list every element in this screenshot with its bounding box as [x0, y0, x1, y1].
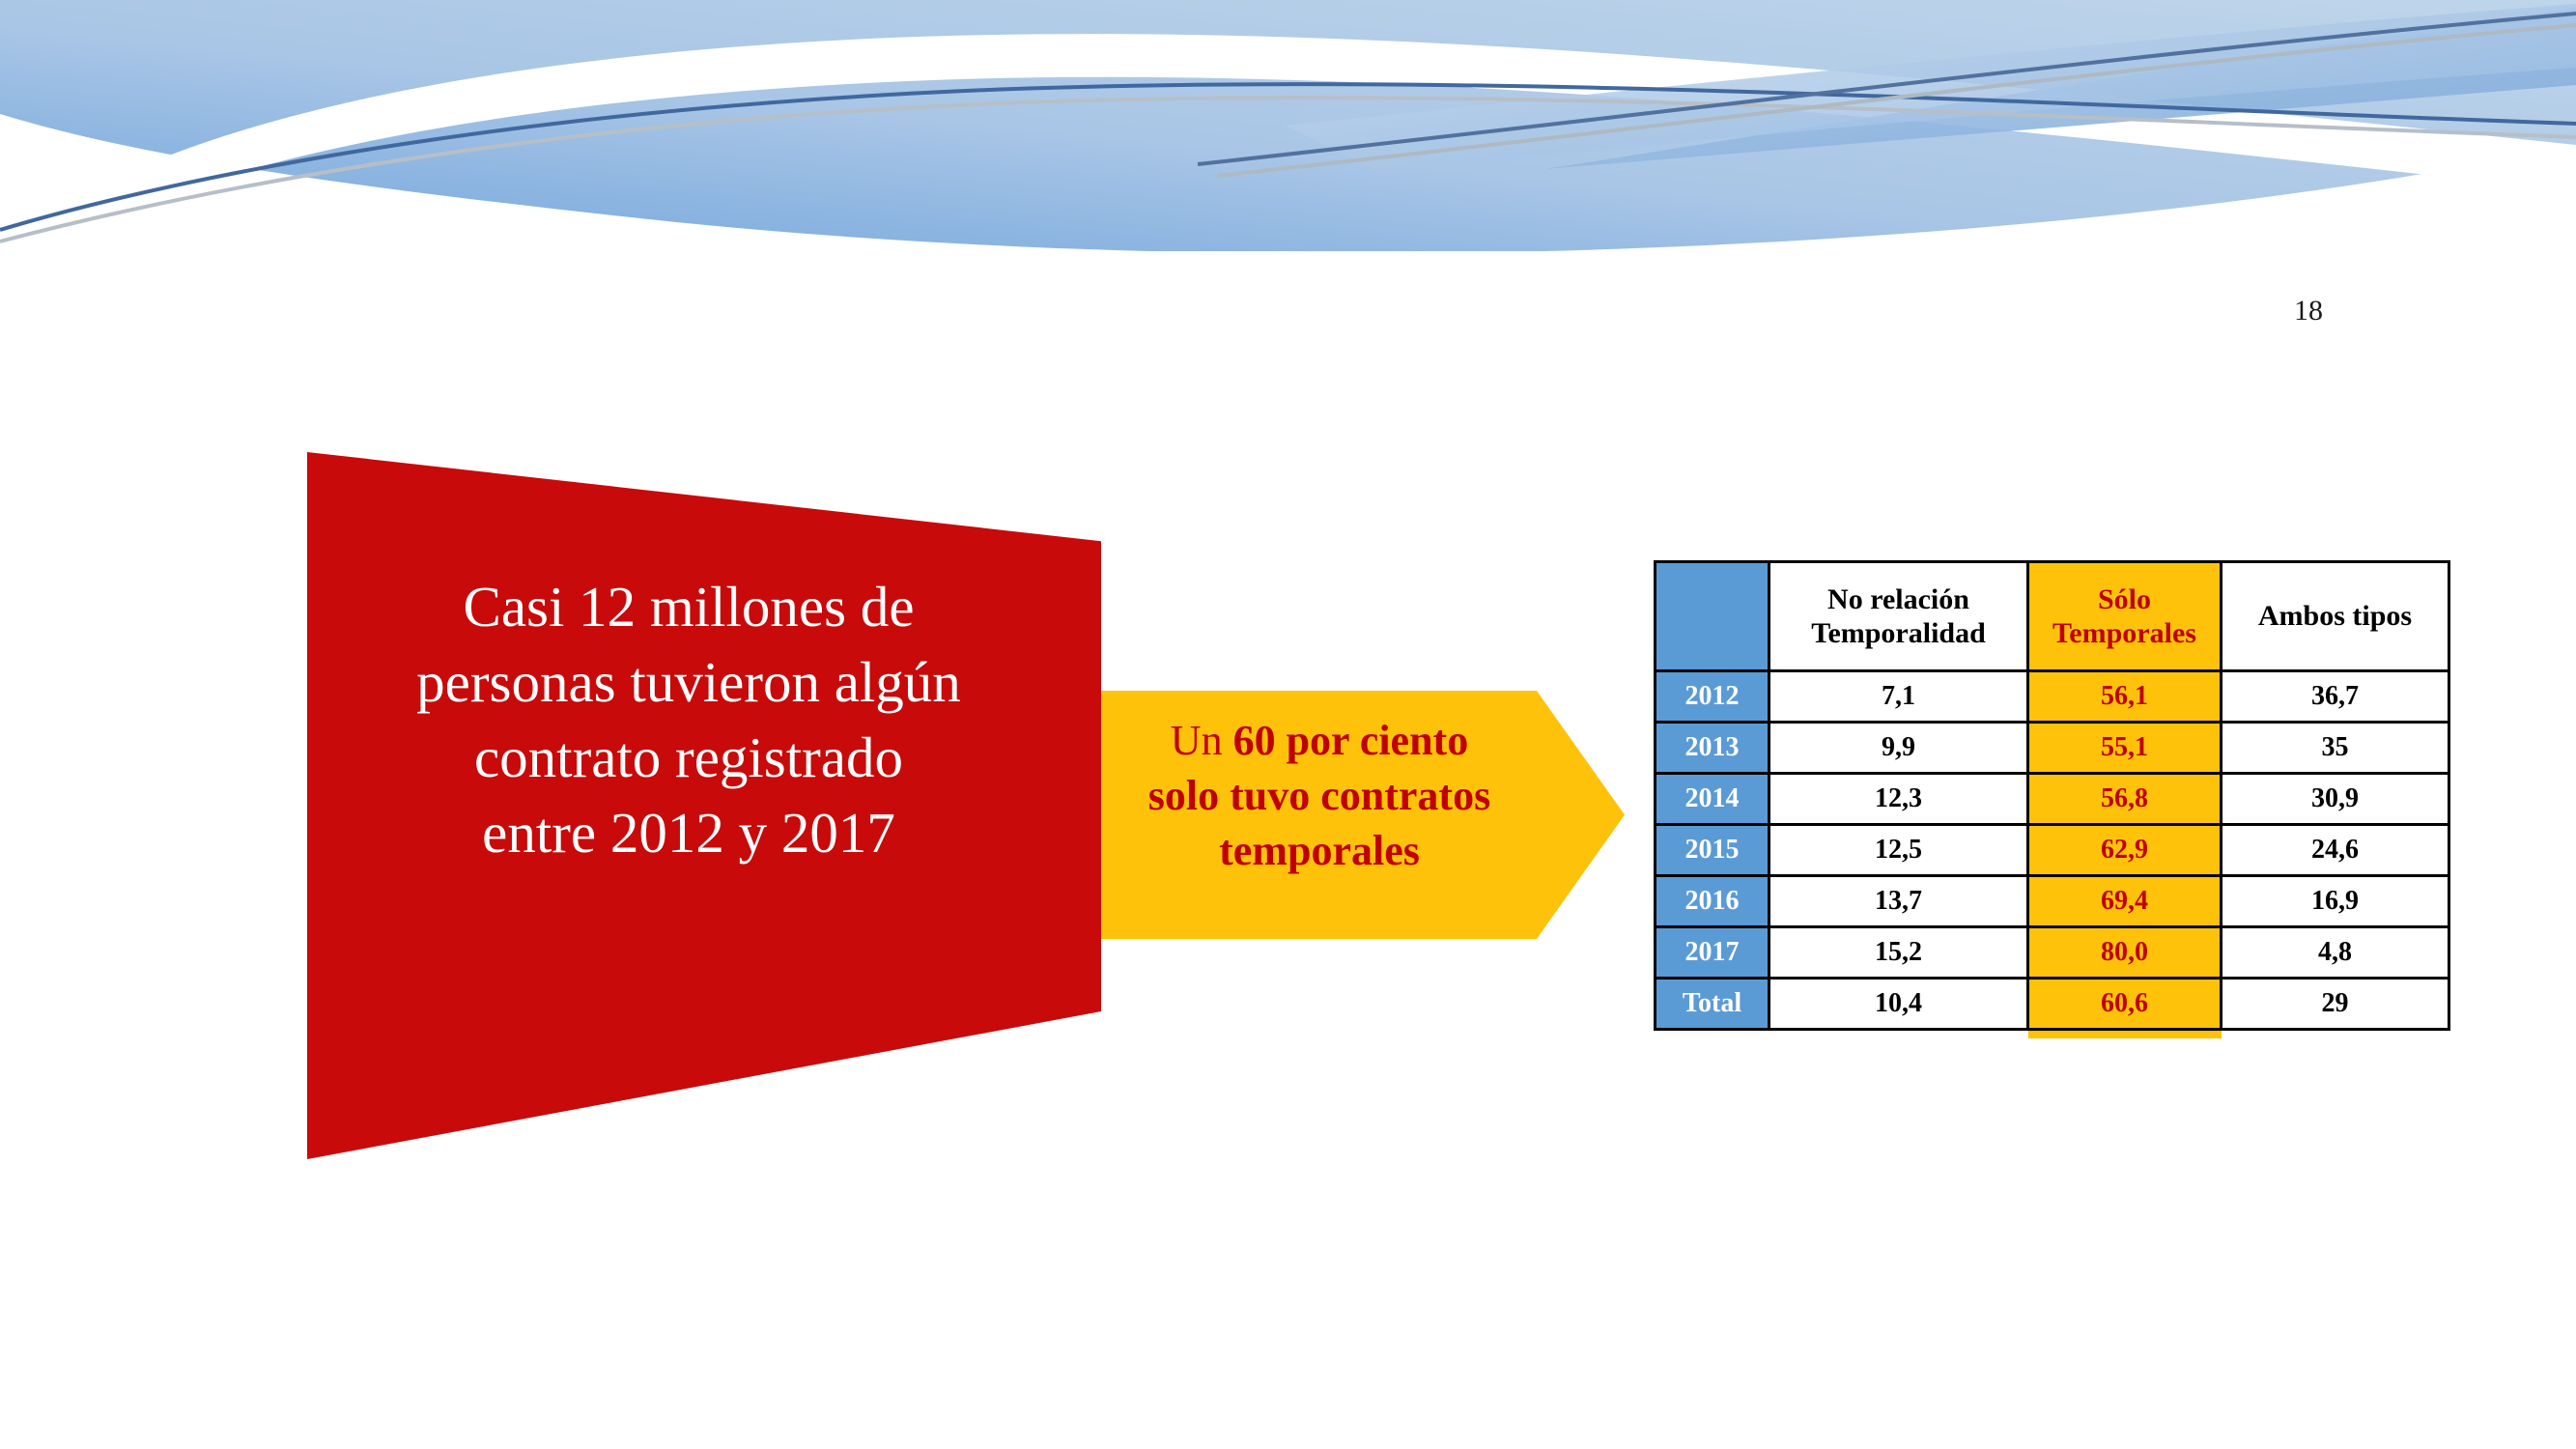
table-row: 20127,156,136,7: [1656, 671, 2449, 723]
table-cell-ambos-tipos: 30,9: [2222, 774, 2449, 825]
table-cell-ambos-tipos: 36,7: [2222, 671, 2449, 723]
table-cell-no-relacion: 15,2: [1769, 927, 2028, 979]
table-header-row: No relación Temporalidad Sólo Temporales…: [1656, 562, 2449, 671]
table-cell-no-relacion: 12,3: [1769, 774, 2028, 825]
table-row-label: 2013: [1656, 723, 1769, 774]
table-cell-ambos-tipos: 29: [2222, 979, 2449, 1030]
table-cell-solo-temporales: 56,1: [2028, 671, 2222, 723]
table-cell-ambos-tipos: 24,6: [2222, 825, 2449, 876]
table-cell-no-relacion: 7,1: [1769, 671, 2028, 723]
contract-type-table: No relación Temporalidad Sólo Temporales…: [1654, 560, 2450, 1031]
decorative-wave-banner-icon: [0, 0, 2576, 251]
table-row-label: 2016: [1656, 876, 1769, 927]
table-row-label: 2015: [1656, 825, 1769, 876]
table-cell-no-relacion: 9,9: [1769, 723, 2028, 774]
table-header-no-relacion: No relación Temporalidad: [1769, 562, 2028, 671]
red-callout-line-2: personas tuvieron algún: [307, 645, 1070, 721]
table-cell-solo-temporales: 56,8: [2028, 774, 2222, 825]
table-cell-solo-temporales: 80,0: [2028, 927, 2222, 979]
arrow-callout-lead: Un: [1171, 717, 1233, 764]
table-cell-solo-temporales: 69,4: [2028, 876, 2222, 927]
table-row-label: 2012: [1656, 671, 1769, 723]
contract-type-table-container: No relación Temporalidad Sólo Temporales…: [1654, 560, 2450, 1031]
red-callout-line-3: contrato registrado: [307, 721, 1070, 796]
table-corner-header: [1656, 562, 1769, 671]
table-cell-solo-temporales: 55,1: [2028, 723, 2222, 774]
table-cell-ambos-tipos: 16,9: [2222, 876, 2449, 927]
red-callout-line-4: entre 2012 y 2017: [307, 796, 1070, 871]
table-cell-no-relacion: 10,4: [1769, 979, 2028, 1030]
arrow-callout-line-1: Un 60 por ciento: [1101, 713, 1538, 768]
table-header-solo-temporales: Sólo Temporales: [2028, 562, 2222, 671]
page-number: 18: [2250, 295, 2366, 327]
table-row: 201715,280,04,8: [1656, 927, 2449, 979]
table-row: 20139,955,135: [1656, 723, 2449, 774]
red-callout-text: Casi 12 millones de personas tuvieron al…: [307, 570, 1070, 871]
table-row-label: Total: [1656, 979, 1769, 1030]
table-cell-solo-temporales: 62,9: [2028, 825, 2222, 876]
arrow-callout-line-3: temporales: [1101, 823, 1538, 878]
table-row: 201412,356,830,9: [1656, 774, 2449, 825]
table-row-label: 2017: [1656, 927, 1769, 979]
table-row: 201613,769,416,9: [1656, 876, 2449, 927]
table-header-ambos-tipos: Ambos tipos: [2222, 562, 2449, 671]
table-cell-no-relacion: 13,7: [1769, 876, 2028, 927]
table-cell-no-relacion: 12,5: [1769, 825, 2028, 876]
table-cell-solo-temporales: 60,6: [2028, 979, 2222, 1030]
presentation-slide: 18 Casi 12 millones de personas tuvieron…: [0, 0, 2576, 1449]
red-callout-line-1: Casi 12 millones de: [307, 570, 1070, 645]
arrow-callout-line-2: solo tuvo contratos: [1101, 768, 1538, 823]
arrow-callout-emphasis-1: 60 por ciento: [1233, 717, 1469, 764]
table-cell-ambos-tipos: 4,8: [2222, 927, 2449, 979]
table-row: 201512,562,924,6: [1656, 825, 2449, 876]
table-cell-ambos-tipos: 35: [2222, 723, 2449, 774]
table-row: Total10,460,629: [1656, 979, 2449, 1030]
arrow-callout-text: Un 60 por ciento solo tuvo contratos tem…: [1101, 713, 1538, 879]
table-row-label: 2014: [1656, 774, 1769, 825]
